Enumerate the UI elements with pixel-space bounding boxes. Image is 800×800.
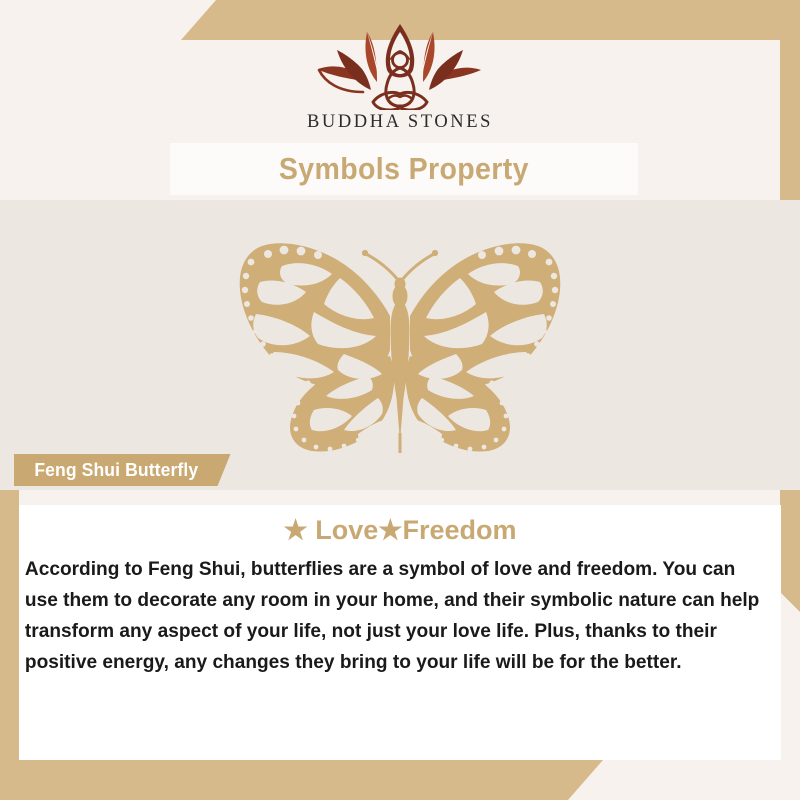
lotus-meditation-icon [315, 22, 485, 110]
brand-wordmark: BUDDHA STONES [307, 112, 493, 133]
content-panel: ★ Love★Freedom According to Feng Shui, b… [19, 505, 781, 760]
butterfly-icon [218, 238, 582, 453]
illustration-panel [0, 200, 800, 490]
tag-label: Feng Shui Butterfly [34, 459, 198, 481]
status-badge: Feng Shui Butterfly [14, 454, 231, 486]
title-banner: Symbols Property [170, 143, 638, 195]
brand-logo: BUDDHA STONES [0, 22, 800, 140]
gold-bottom-band-decoration [0, 760, 800, 800]
body-paragraph: According to Feng Shui, butterflies are … [19, 546, 770, 678]
subheading: ★ Love★Freedom [19, 505, 781, 546]
promo-card: BUDDHA STONES Symbols Property [0, 0, 800, 800]
page-title: Symbols Property [279, 151, 529, 187]
